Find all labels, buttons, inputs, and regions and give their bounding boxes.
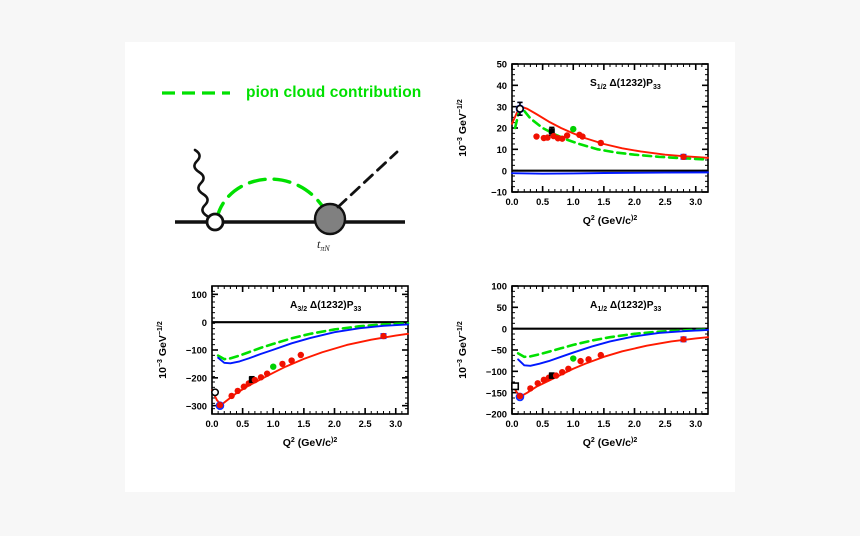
a32-xticklabel: 0.5 <box>236 418 249 429</box>
a12-yticklabel: −50 <box>491 345 507 356</box>
a32-plot: 0.00.51.01.52.02.53.0−300−200−1000100Q2 … <box>157 286 408 449</box>
s12-yticklabel: 0 <box>502 165 507 176</box>
a12-datapoint <box>565 366 571 372</box>
a12-xticklabel: 2.0 <box>628 418 641 429</box>
a12-xticklabel: 0.0 <box>505 418 518 429</box>
a32-datapoint <box>217 402 223 408</box>
s12-xticklabel: 0.0 <box>505 196 518 207</box>
a12-series-bare-contribution <box>518 330 708 366</box>
chart-panel-a32: 0.00.51.01.52.02.53.0−300−200−1000100Q2 … <box>150 274 425 474</box>
a32-series-pion-cloud-contribution <box>218 323 408 359</box>
a32-datapoint <box>270 363 276 369</box>
a12-xticklabel: 3.0 <box>689 418 702 429</box>
s12-yaxis-title: 10−3 GeV−1/2 <box>457 99 469 157</box>
a12-yticklabel: 50 <box>497 302 507 313</box>
a32-datapoint <box>235 388 241 394</box>
a32-xticklabel: 3.0 <box>389 418 402 429</box>
a12-series-full-model <box>512 337 708 396</box>
s12-annotation: S1/2 Δ(1232)P33 <box>590 78 661 91</box>
s12-xticklabel: 0.5 <box>536 196 549 207</box>
a32-yticklabel: −200 <box>186 372 207 383</box>
a12-plot: 0.00.51.01.52.02.53.0−200−150−100−500501… <box>457 281 708 449</box>
legend-pion-cloud: pion cloud contribution <box>160 84 421 102</box>
chart-panel-a12: 0.00.51.01.52.02.53.0−200−150−100−500501… <box>450 274 725 474</box>
a32-datapoint <box>264 370 270 376</box>
a32-datapoint-open <box>212 389 218 395</box>
s12-yticklabel: 10 <box>497 144 507 155</box>
a32-xaxis-title: Q2 (GeV/c)2 <box>283 437 338 449</box>
figure-card: pion cloud contribution tπN 0.00.51.01.5… <box>125 42 735 492</box>
s12-xticklabel: 2.0 <box>628 196 641 207</box>
a12-chart-svg: 0.00.51.01.52.02.53.0−200−150−100−500501… <box>450 274 725 474</box>
a12-yticklabel: 100 <box>491 281 507 292</box>
s12-xaxis-title: Q2 (GeV/c)2 <box>583 215 638 227</box>
s12-datapoint <box>680 154 686 160</box>
s12-series-bare-contribution <box>512 172 708 173</box>
a32-series-full-model <box>212 334 408 405</box>
photon-wavy-line <box>194 150 211 223</box>
legend-dash-icon <box>160 87 232 99</box>
a12-datapoint <box>577 358 583 364</box>
a12-xaxis-title: Q2 (GeV/c)2 <box>583 437 638 449</box>
s12-yticklabel: 40 <box>497 80 507 91</box>
feynman-diagram-svg: tπN <box>165 122 415 252</box>
a32-yticklabel: 0 <box>202 317 207 328</box>
outgoing-dashed-line <box>338 152 397 207</box>
s12-yticklabel: 20 <box>497 123 507 134</box>
a32-datapoint <box>380 333 386 339</box>
s12-xticklabel: 1.0 <box>567 196 580 207</box>
a32-yticklabel: −100 <box>186 345 207 356</box>
a12-yticklabel: −100 <box>486 366 507 377</box>
a32-yticklabel: −300 <box>186 400 207 411</box>
a12-xticklabel: 0.5 <box>536 418 549 429</box>
a32-xticklabel: 2.0 <box>328 418 341 429</box>
chart-panel-s12: 0.00.51.01.52.02.53.0−1001020304050Q2 (G… <box>450 52 725 252</box>
a32-annotation: A3/2 Δ(1232)P33 <box>290 300 361 313</box>
a12-datapoint <box>559 369 565 375</box>
a12-xticklabel: 1.5 <box>597 418 610 429</box>
s12-yticklabel: −10 <box>491 187 507 198</box>
a32-xticklabel: 1.0 <box>267 418 280 429</box>
s12-yticklabel: 50 <box>497 59 507 70</box>
a32-yaxis-title: 10−3 GeV−1/2 <box>157 321 169 379</box>
pion-cloud-arc <box>217 179 325 218</box>
s12-xticklabel: 3.0 <box>689 196 702 207</box>
a32-datapoint <box>288 357 294 363</box>
a12-annotation: A1/2 Δ(1232)P33 <box>590 300 661 313</box>
a12-datapoint <box>680 336 686 342</box>
s12-xticklabel: 2.5 <box>659 196 672 207</box>
a32-xticklabel: 0.0 <box>205 418 218 429</box>
feynman-diagram-panel: tπN <box>165 122 415 252</box>
a32-series-bare-contribution <box>218 324 408 363</box>
s12-datapoint <box>570 126 576 132</box>
a12-series-pion-cloud-contribution <box>518 330 708 357</box>
t-pi-n-blob <box>315 204 345 234</box>
a32-datapoint <box>252 377 258 383</box>
a12-yaxis-title: 10−3 GeV−1/2 <box>457 321 469 379</box>
a32-datapoint <box>258 374 264 380</box>
a32-datapoint <box>279 361 285 367</box>
a32-chart-svg: 0.00.51.01.52.02.53.0−300−200−1000100Q2 … <box>150 274 425 474</box>
s12-datapoint <box>564 132 570 138</box>
a32-xticklabel: 1.5 <box>297 418 310 429</box>
a12-yticklabel: 0 <box>502 323 507 334</box>
a32-datapoint <box>298 352 304 358</box>
a32-datapoint <box>228 393 234 399</box>
s12-yticklabel: 30 <box>497 101 507 112</box>
a12-datapoint <box>527 385 533 391</box>
s12-datapoint <box>579 133 585 139</box>
a12-yticklabel: −200 <box>486 409 507 420</box>
a12-datapoint <box>570 355 576 361</box>
open-circle-vertex <box>207 214 223 230</box>
s12-datapoint-open <box>517 106 523 112</box>
a12-datapoint <box>598 352 604 358</box>
a12-datapoint-square-open <box>512 383 518 389</box>
s12-datapoint <box>598 140 604 146</box>
s12-chart-svg: 0.00.51.01.52.02.53.0−1001020304050Q2 (G… <box>450 52 725 252</box>
a12-xticklabel: 2.5 <box>659 418 672 429</box>
a12-datapoint <box>535 380 541 386</box>
blob-label: tπN <box>317 237 330 253</box>
s12-series-pion-cloud-contribution <box>515 108 708 160</box>
a12-datapoint <box>585 356 591 362</box>
a12-datapoint <box>517 393 523 399</box>
a12-yticklabel: −150 <box>486 387 507 398</box>
a12-xticklabel: 1.0 <box>567 418 580 429</box>
a32-xticklabel: 2.5 <box>359 418 372 429</box>
s12-plot: 0.00.51.01.52.02.53.0−1001020304050Q2 (G… <box>457 59 708 227</box>
a12-datapoint <box>553 372 559 378</box>
a32-yticklabel: 100 <box>191 289 207 300</box>
legend-label: pion cloud contribution <box>246 84 421 102</box>
s12-xticklabel: 1.5 <box>597 196 610 207</box>
s12-datapoint <box>533 133 539 139</box>
